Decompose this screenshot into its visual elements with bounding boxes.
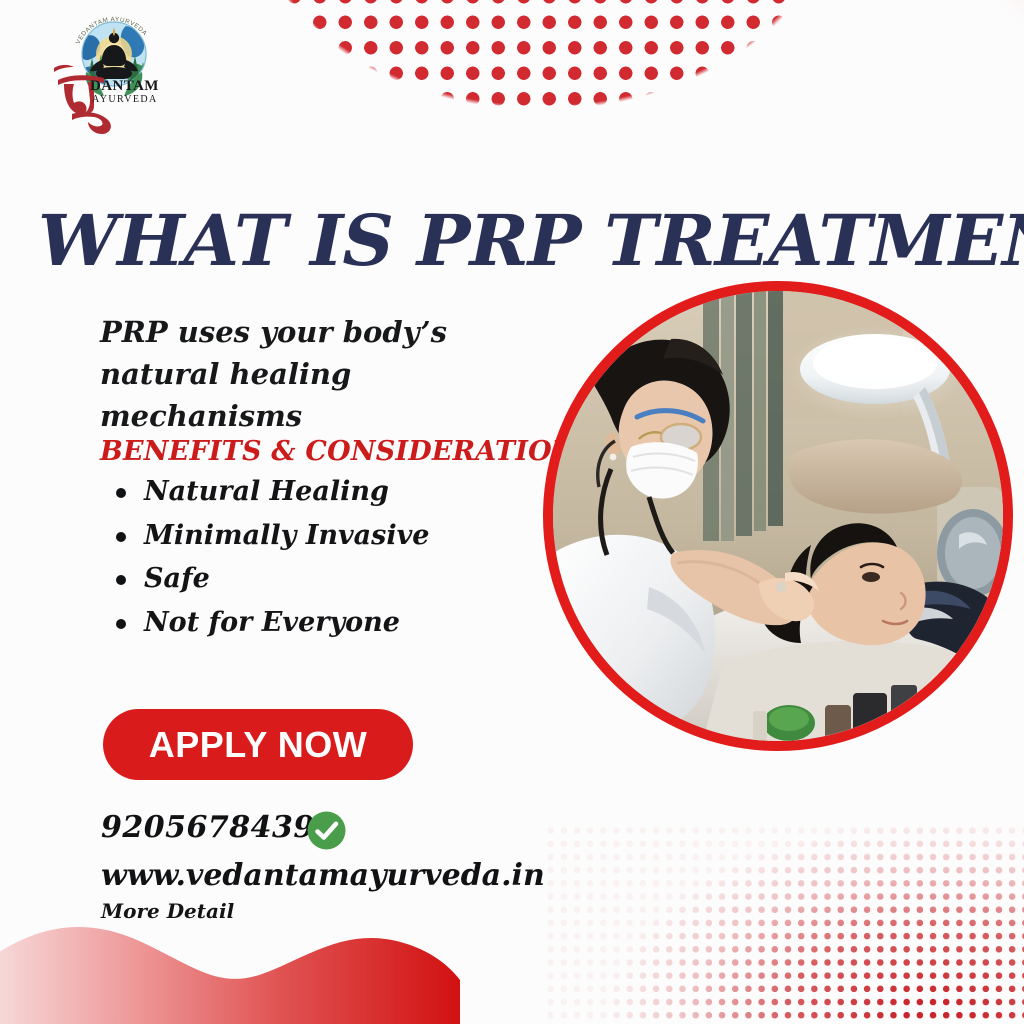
green-check-badge-icon bbox=[306, 810, 347, 851]
phone-number[interactable]: 9205678439 bbox=[101, 810, 315, 845]
promo-poster: VEDANTAM AYURVEDA bbox=[0, 0, 1024, 1024]
benefits-list: Natural Healing Minimally Invasive Safe … bbox=[100, 470, 429, 645]
page-title: WHAT IS PRP TREATMENT bbox=[38, 199, 1024, 282]
list-item: Safe bbox=[144, 557, 429, 601]
bottom-right-halftone-dots-decoration bbox=[544, 824, 1024, 1024]
logo-wordmark: DANTAM bbox=[90, 78, 159, 94]
list-item: Natural Healing bbox=[144, 470, 429, 514]
apply-now-button[interactable]: APPLY NOW bbox=[103, 709, 413, 780]
list-item: Not for Everyone bbox=[144, 601, 429, 645]
brand-logo[interactable]: VEDANTAM AYURVEDA bbox=[26, 2, 176, 137]
top-halftone-dots-decoration bbox=[256, 0, 828, 122]
subheadline: PRP uses your body’s natural healing mec… bbox=[100, 311, 540, 437]
logo-subtitle: AYURVEDA bbox=[92, 94, 158, 105]
website-url[interactable]: www.vedantamayurveda.in bbox=[101, 858, 545, 893]
benefits-heading: BENEFITS & CONSIDERATIONS bbox=[100, 436, 596, 467]
list-item: Minimally Invasive bbox=[144, 514, 429, 558]
more-detail-label[interactable]: More Detail bbox=[101, 899, 234, 923]
treatment-photo bbox=[543, 281, 1013, 751]
